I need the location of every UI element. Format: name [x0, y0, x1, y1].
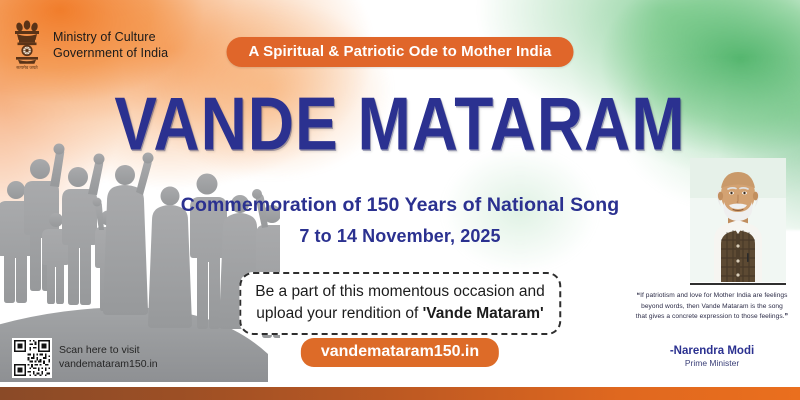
event-dates: 7 to 14 November, 2025 — [0, 226, 800, 247]
qr-scan-block[interactable]: Scan here to visit vandemataram150.in — [12, 338, 158, 378]
state-emblem-of-india-icon: सत्यमेव जयते — [10, 16, 44, 74]
callout-line-2-prefix: upload your rendition of — [256, 305, 422, 322]
svg-text:सत्यमेव जयते: सत्यमेव जयते — [16, 65, 38, 70]
callout-line-2-emphasis: 'Vande Mataram' — [423, 305, 544, 322]
portrait-divider-rule — [690, 283, 786, 285]
tagline-ribbon-badge: A Spiritual & Patriotic Ode to Mother In… — [227, 37, 574, 67]
ministry-lockup: सत्यमेव जयते Ministry of Culture Governm… — [10, 16, 168, 74]
callout-line-1: Be a part of this momentous occasion and — [255, 281, 545, 303]
qr-label-line-1: Scan here to visit — [59, 344, 158, 358]
ministry-line-1: Ministry of Culture — [53, 29, 168, 45]
prime-minister-portrait — [690, 158, 786, 282]
quote-line-1: ❝If patriotism and love for Mother India… — [628, 291, 796, 302]
quote-line-3: that gives a concrete expression to thos… — [628, 312, 796, 323]
participation-callout: Be a part of this momentous occasion and… — [239, 272, 561, 335]
bottom-accent-bar — [0, 387, 800, 400]
quote-author-role: Prime Minister — [642, 358, 782, 368]
ministry-line-2: Government of India — [53, 45, 168, 61]
page-title: VANDE MATARAM — [0, 86, 800, 162]
vande-mataram-banner: सत्यमेव जयते Ministry of Culture Governm… — [0, 0, 800, 400]
qr-label-line-2: vandemataram150.in — [59, 358, 158, 372]
callout-line-2: upload your rendition of 'Vande Mataram' — [255, 303, 545, 325]
quote-author-name: -Narendra Modi — [642, 345, 782, 357]
qr-code-icon[interactable] — [12, 338, 52, 378]
commemoration-subtitle: Commemoration of 150 Years of National S… — [0, 194, 800, 217]
quote-line-2: beyond words, then Vande Mataram is the … — [628, 302, 796, 313]
quote-attribution: -Narendra Modi Prime Minister — [642, 345, 782, 368]
prime-minister-quote: ❝If patriotism and love for Mother India… — [628, 291, 796, 323]
website-url-button[interactable]: vandemataram150.in — [301, 338, 499, 367]
